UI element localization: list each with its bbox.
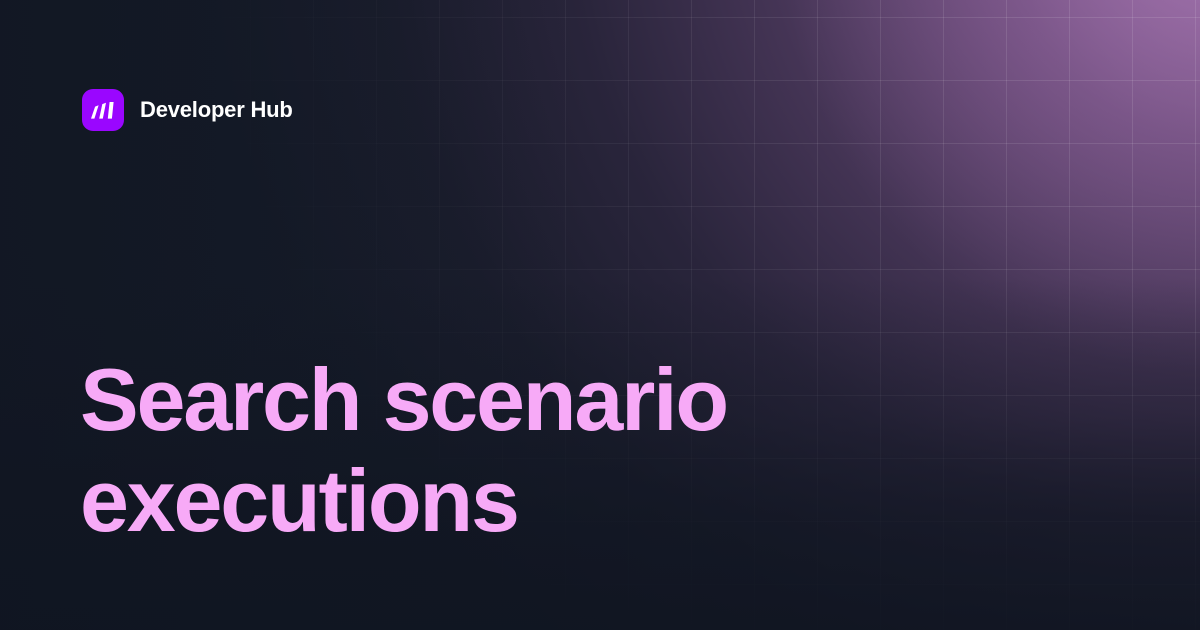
og-card: Developer Hub Search scenario executions bbox=[0, 0, 1200, 630]
brand-name-label: Developer Hub bbox=[140, 99, 293, 121]
make-m-logo-icon bbox=[82, 89, 124, 131]
brand-lockup: Developer Hub bbox=[82, 89, 293, 131]
page-title: Search scenario executions bbox=[80, 349, 1100, 551]
card-content: Developer Hub Search scenario executions bbox=[0, 0, 1200, 630]
